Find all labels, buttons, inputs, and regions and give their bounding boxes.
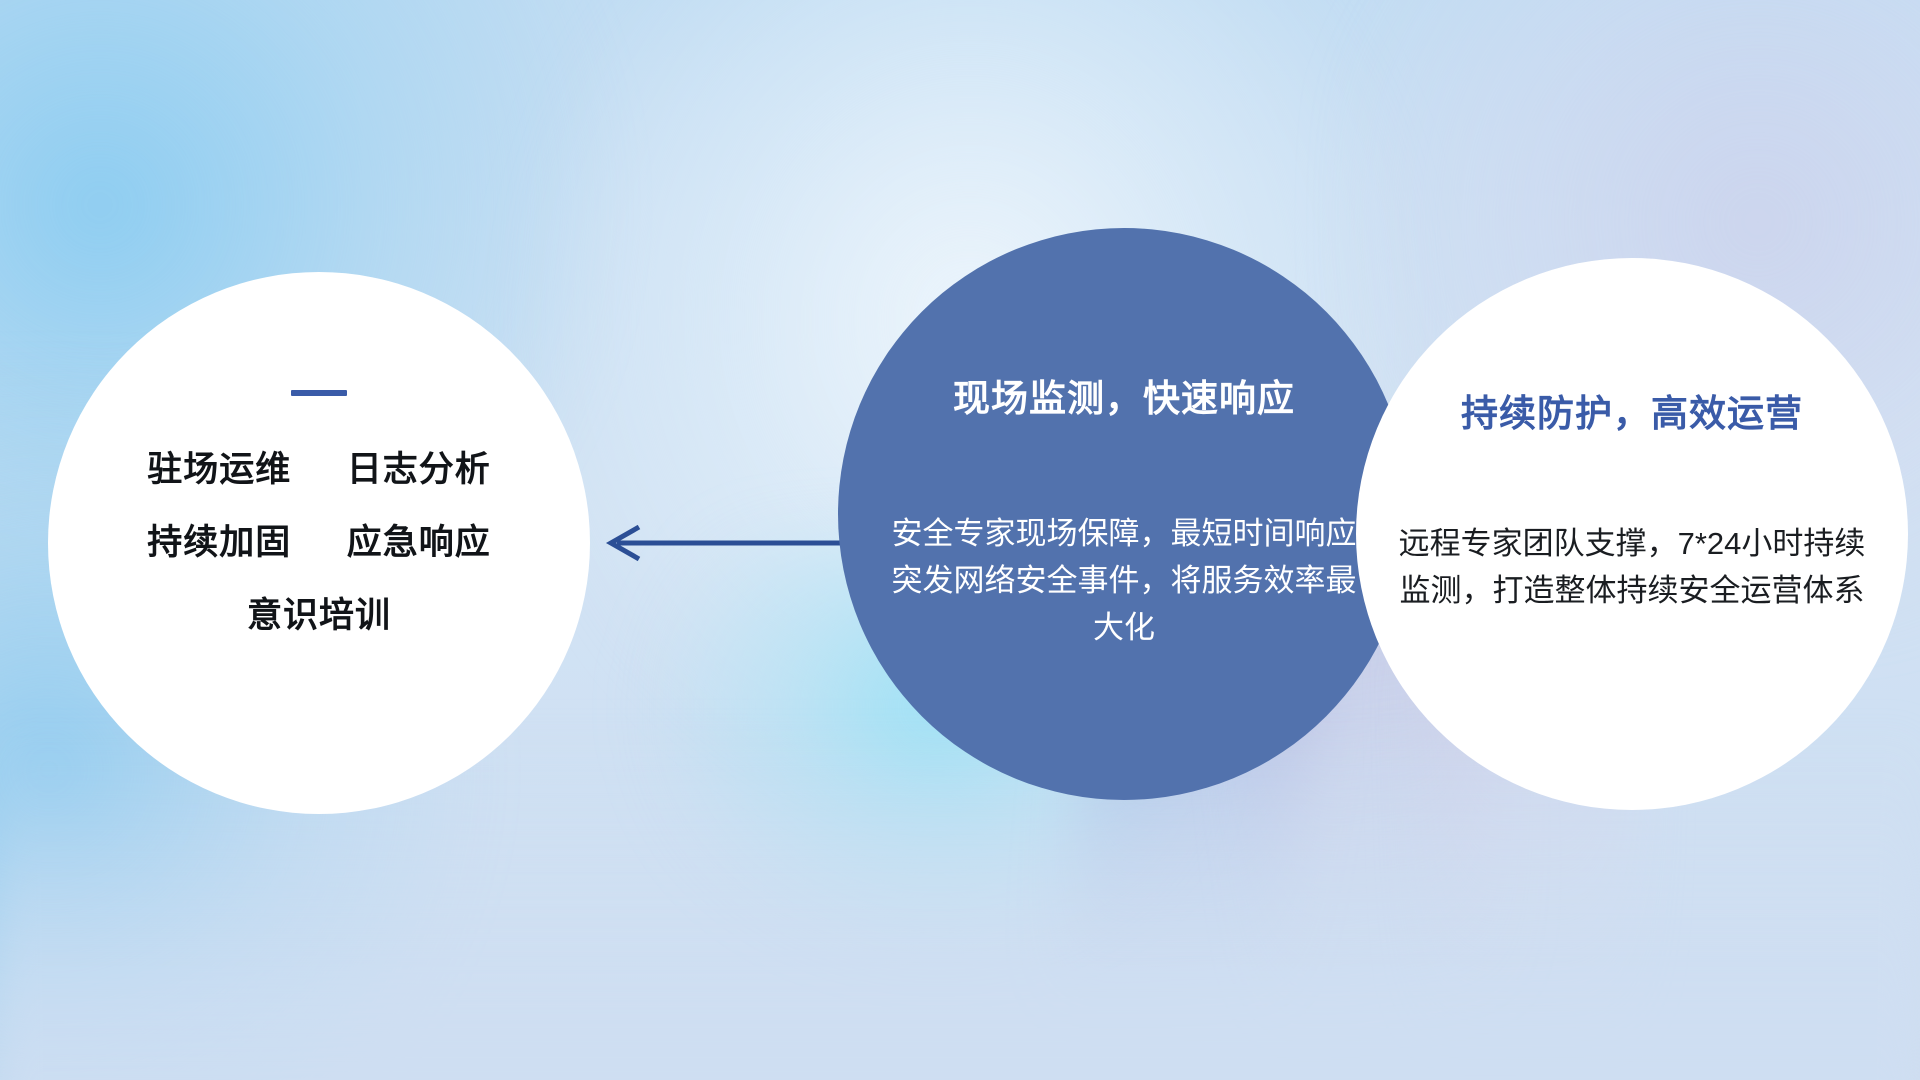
tag-row: 驻场运维 日志分析 bbox=[48, 452, 590, 489]
tag-label: 驻场运维 bbox=[147, 450, 291, 489]
circle-right-title: 持续防护，高效运营 bbox=[1356, 383, 1908, 437]
tag-row: 意识培训 bbox=[48, 598, 590, 635]
circle-right-body: 远程专家团队支撑，7*24小时持续监测，打造整体持续安全运营体系 bbox=[1392, 520, 1872, 614]
slide-canvas: 现场监测，快速响应 安全专家现场保障，最短时间响应突发网络安全事件，将服务效率最… bbox=[0, 0, 1920, 1080]
tag-label: 持续加固 bbox=[147, 523, 291, 562]
circle-on-site-capabilities[interactable]: 驻场运维 日志分析 持续加固 应急响应 意识培训 bbox=[48, 272, 590, 814]
circle-mid-body: 安全专家现场保障，最短时间响应突发网络安全事件，将服务效率最大化 bbox=[890, 510, 1358, 651]
circle-mid-title: 现场监测，快速响应 bbox=[838, 368, 1410, 422]
circle-continuous-protection[interactable]: 持续防护，高效运营 远程专家团队支撑，7*24小时持续监测，打造整体持续安全运营… bbox=[1356, 258, 1908, 810]
tag-label: 意识培训 bbox=[247, 596, 391, 635]
circle-on-site-monitoring[interactable]: 现场监测，快速响应 安全专家现场保障，最短时间响应突发网络安全事件，将服务效率最… bbox=[838, 228, 1410, 800]
accent-dash bbox=[291, 390, 347, 396]
circle-left-content: 驻场运维 日志分析 持续加固 应急响应 意识培训 bbox=[48, 390, 590, 634]
tag-label: 应急响应 bbox=[347, 523, 491, 562]
tag-label: 日志分析 bbox=[347, 450, 491, 489]
tag-row: 持续加固 应急响应 bbox=[48, 525, 590, 562]
